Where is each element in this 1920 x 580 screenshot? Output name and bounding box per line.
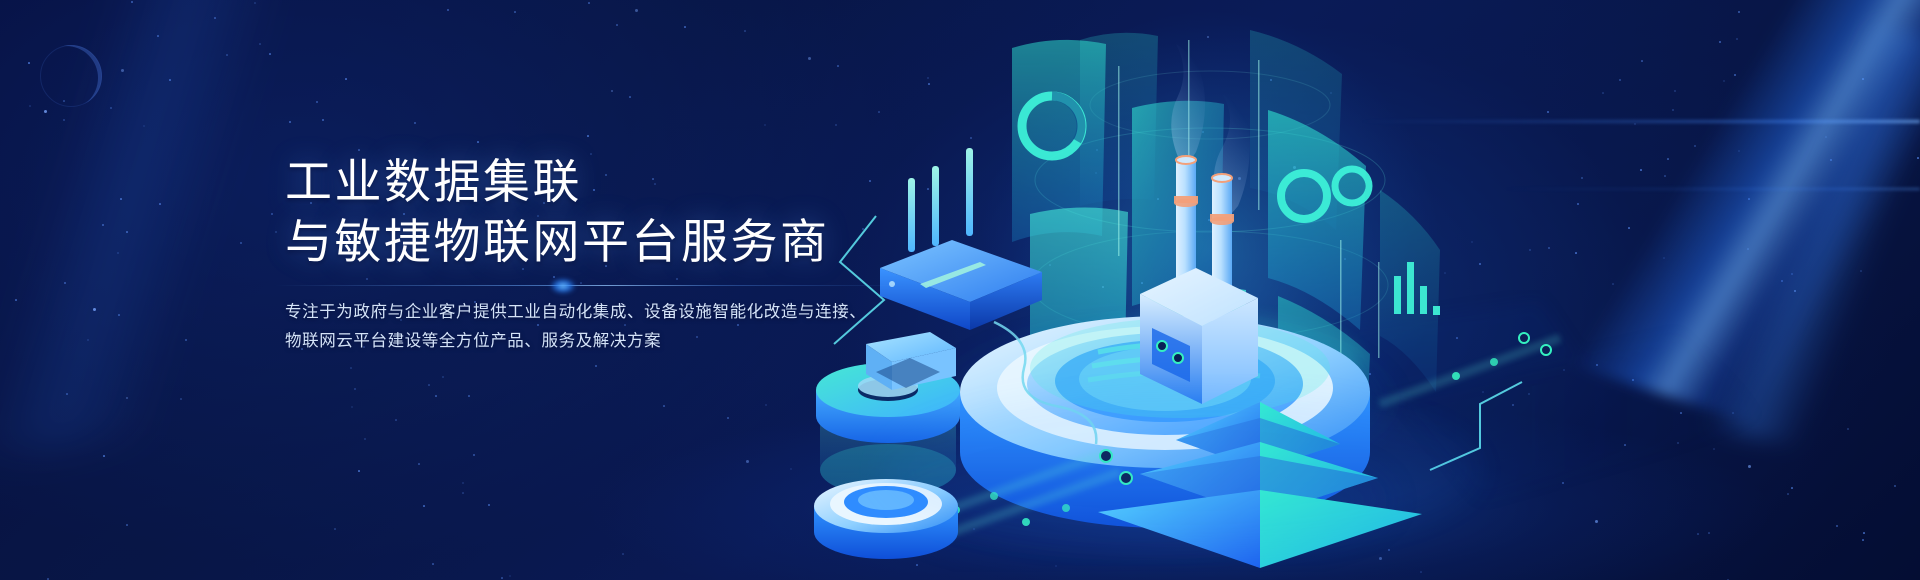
divider-line xyxy=(273,285,913,286)
crescent-planet-icon xyxy=(40,45,102,107)
hero-banner: 工业数据集联 与敏捷物联网平台服务商 专注于为政府与企业客户提供工业自动化集成、… xyxy=(0,0,1920,580)
headline-line-2: 与敏捷物联网平台服务商 xyxy=(285,212,985,272)
headline-line-1: 工业数据集联 xyxy=(285,152,985,212)
hero-text-block: 工业数据集联 与敏捷物联网平台服务商 专注于为政府与企业客户提供工业自动化集成、… xyxy=(285,152,985,356)
front-glow-wash xyxy=(880,390,1480,550)
subtitle-line-2: 物联网云平台建设等全方位产品、服务及解决方案 xyxy=(285,327,985,356)
headline-divider xyxy=(285,276,985,298)
divider-glow-dot xyxy=(550,278,576,294)
subtitle-line-1: 专注于为政府与企业客户提供工业自动化集成、设备设施智能化改造与连接、 xyxy=(285,298,985,327)
